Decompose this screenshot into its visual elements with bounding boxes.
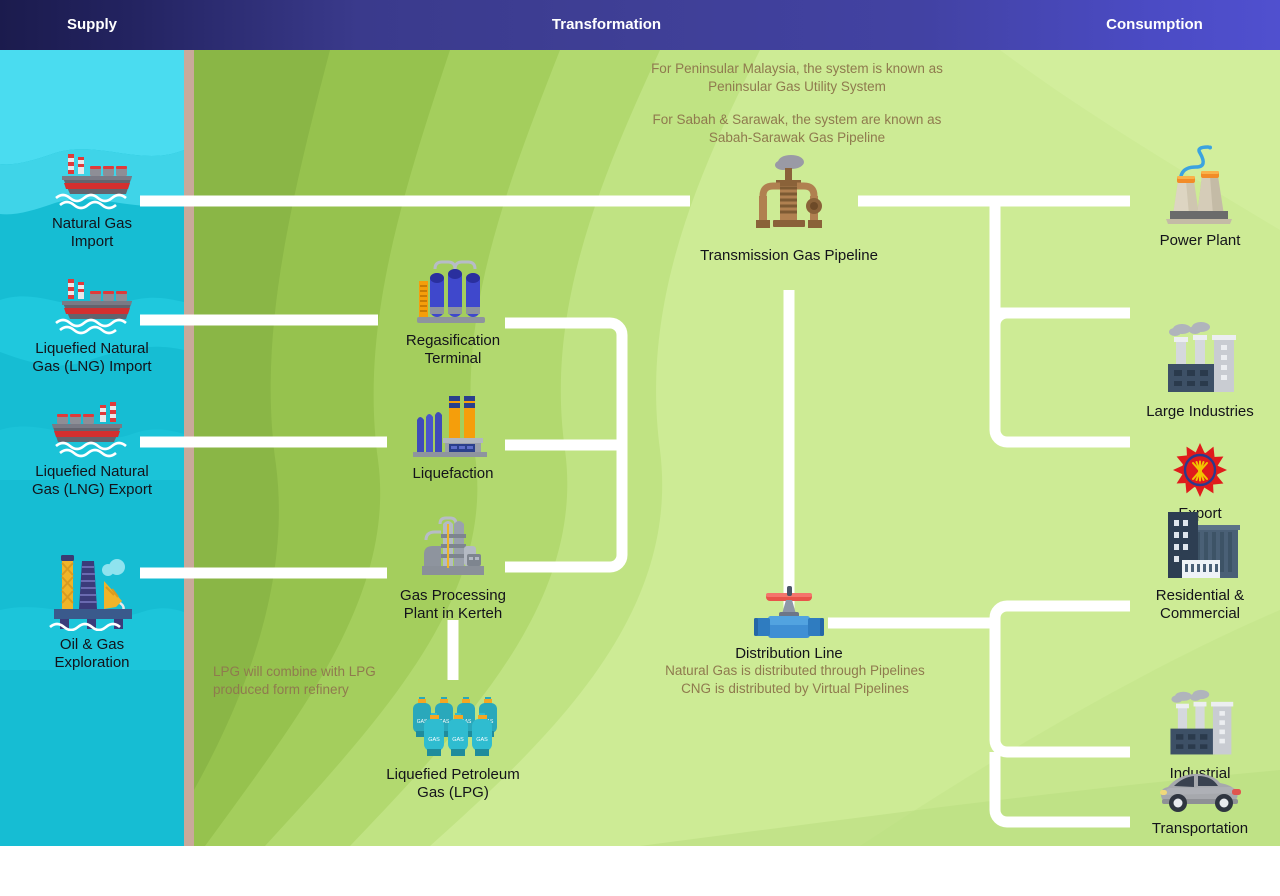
node-label: Gas Processing Plant in Kerteh: [363, 587, 543, 624]
node-label: Liquefied Natural Gas (LNG) Export: [0, 463, 184, 500]
node-label: Distribution Line: [699, 645, 879, 663]
factory-icon: [1154, 688, 1246, 760]
node-lng-import[interactable]: Liquefied Natural Gas (LNG) Import: [0, 275, 184, 377]
cargo-ship-icon: [48, 150, 136, 210]
node-power-plant[interactable]: Power Plant: [1110, 145, 1280, 250]
cooling-tower-icon: [1154, 145, 1246, 227]
node-label: Natural Gas Import: [0, 215, 184, 252]
header-label-transformation: Transformation: [184, 0, 1029, 50]
header-label-consumption: Consumption: [1029, 0, 1280, 50]
node-label: Transmission Gas Pipeline: [669, 247, 909, 265]
car-icon: [1152, 765, 1248, 815]
node-gas-processing-plant[interactable]: Gas Processing Plant in Kerteh: [363, 510, 543, 624]
oil-rig-icon: [44, 545, 140, 631]
node-label: Transportation: [1110, 820, 1280, 838]
refinery-tower-icon: [410, 510, 496, 582]
node-label: Oil & Gas Exploration: [0, 636, 184, 673]
asean-emblem-icon: [1170, 442, 1230, 500]
header-bar: Supply Transformation Consumption: [0, 0, 1280, 50]
gas-tanks-icon: [411, 255, 495, 327]
node-label: Residential & Commercial: [1110, 587, 1280, 624]
node-label: Large Industries: [1110, 403, 1280, 421]
node-label: Liquefied Petroleum Gas (LPG): [363, 766, 543, 803]
node-oil-gas-exploration[interactable]: Oil & Gas Exploration: [0, 545, 184, 673]
cargo-ship-reverse-icon: [48, 398, 136, 458]
svg-text:GAS: GAS: [452, 737, 464, 743]
node-transportation[interactable]: Transportation: [1110, 765, 1280, 838]
svg-text:GAS: GAS: [428, 737, 440, 743]
valve-icon: [746, 570, 832, 640]
note-peninsular: For Peninsular Malaysia, the system is k…: [597, 60, 997, 96]
node-large-industries[interactable]: Large Industries: [1110, 320, 1280, 421]
diagram-canvas: Natural Gas Import: [0, 50, 1280, 846]
liquefaction-plant-icon: [407, 390, 499, 460]
node-distribution-line[interactable]: Distribution Line: [699, 570, 879, 663]
node-regasification-terminal[interactable]: Regasification Terminal: [363, 255, 543, 369]
pipe-network: [0, 50, 1280, 846]
note-sabah-sarawak: For Sabah & Sarawak, the system are know…: [597, 111, 997, 147]
node-transmission-gas-pipeline[interactable]: Transmission Gas Pipeline: [669, 150, 909, 265]
node-lpg[interactable]: GAS GAS GAS: [363, 695, 543, 803]
buildings-icon: [1154, 508, 1246, 582]
lpg-cylinders-icon: GAS GAS GAS: [405, 695, 501, 761]
factory-icon: [1154, 320, 1246, 398]
node-label: Power Plant: [1110, 232, 1280, 250]
node-label: Liquefied Natural Gas (LNG) Import: [0, 340, 184, 377]
node-natural-gas-import[interactable]: Natural Gas Import: [0, 150, 184, 252]
svg-text:GAS: GAS: [476, 737, 488, 743]
pipeline-rig-icon: [747, 150, 831, 242]
header-label-supply: Supply: [0, 0, 184, 50]
node-label: Regasification Terminal: [363, 332, 543, 369]
note-lpg: LPG will combine with LPG produced form …: [213, 663, 423, 699]
node-residential-commercial[interactable]: Residential & Commercial: [1110, 508, 1280, 624]
node-label: Liquefaction: [363, 465, 543, 483]
note-distribution: Natural Gas is distributed through Pipel…: [620, 662, 970, 698]
node-liquefaction[interactable]: Liquefaction: [363, 390, 543, 483]
node-lng-export[interactable]: Liquefied Natural Gas (LNG) Export: [0, 398, 184, 500]
cargo-ship-icon: [48, 275, 136, 335]
infographic-root: Supply Transformation Consumption: [0, 0, 1280, 896]
